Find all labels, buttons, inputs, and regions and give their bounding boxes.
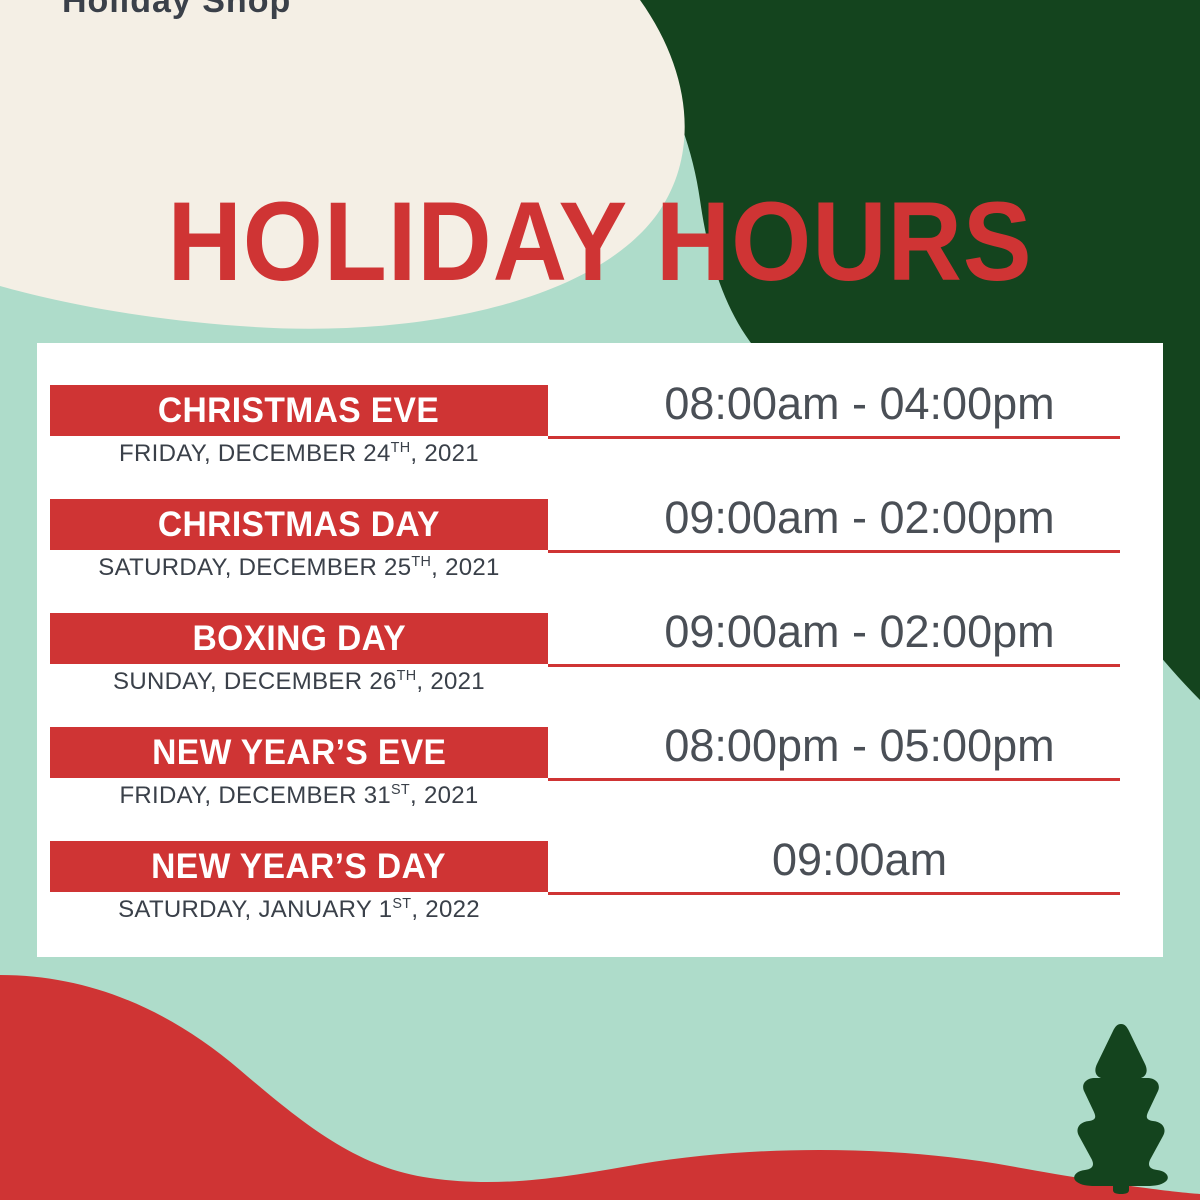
christmas-tree-icon xyxy=(1061,1022,1181,1194)
top-partial-text: Holiday Shop xyxy=(62,0,291,21)
holiday-hours: 09:00am xyxy=(597,837,1122,882)
table-row: NEW YEAR’S DAY SATURDAY, JANUARY 1ST, 20… xyxy=(37,799,1163,913)
holiday-banner: NEW YEAR’S EVE xyxy=(50,727,548,778)
date-ordinal: ST xyxy=(391,782,410,798)
holiday-banner: CHRISTMAS DAY xyxy=(50,499,548,550)
date-suffix: , 2022 xyxy=(411,896,480,923)
holiday-name: NEW YEAR’S EVE xyxy=(152,735,446,770)
table-row: CHRISTMAS EVE FRIDAY, DECEMBER 24TH, 202… xyxy=(37,343,1163,457)
hours-underline xyxy=(548,550,1120,553)
hours-underline xyxy=(548,778,1120,781)
holiday-banner: CHRISTMAS EVE xyxy=(50,385,548,436)
holiday-name: CHRISTMAS EVE xyxy=(158,393,439,428)
table-row: NEW YEAR’S EVE FRIDAY, DECEMBER 31ST, 20… xyxy=(37,685,1163,799)
table-row: CHRISTMAS DAY SATURDAY, DECEMBER 25TH, 2… xyxy=(37,457,1163,571)
holiday-name: BOXING DAY xyxy=(192,621,406,656)
hours-underline xyxy=(548,436,1120,439)
schedule-card: CHRISTMAS EVE FRIDAY, DECEMBER 24TH, 202… xyxy=(37,343,1163,957)
holiday-date: SATURDAY, JANUARY 1ST, 2022 xyxy=(50,898,548,922)
date-ordinal: TH xyxy=(397,668,417,684)
holiday-hours: 08:00pm - 05:00pm xyxy=(597,723,1122,768)
red-wave-shape xyxy=(0,975,1200,1200)
date-ordinal: TH xyxy=(391,440,411,456)
holiday-banner: NEW YEAR’S DAY xyxy=(50,841,548,892)
holiday-hours: 09:00am - 02:00pm xyxy=(597,609,1122,654)
date-ordinal: TH xyxy=(411,554,431,570)
holiday-name: CHRISTMAS DAY xyxy=(158,507,440,542)
date-ordinal: ST xyxy=(392,896,411,912)
holiday-hours: 08:00am - 04:00pm xyxy=(597,381,1122,426)
hours-underline xyxy=(548,892,1120,895)
holiday-name: NEW YEAR’S DAY xyxy=(152,849,447,884)
hours-underline xyxy=(548,664,1120,667)
date-prefix: SATURDAY, JANUARY 1 xyxy=(118,896,392,923)
holiday-banner: BOXING DAY xyxy=(50,613,548,664)
holiday-hours: 09:00am - 02:00pm xyxy=(597,495,1122,540)
table-row: BOXING DAY SUNDAY, DECEMBER 26TH, 2021 0… xyxy=(37,571,1163,685)
schedule-rows: CHRISTMAS EVE FRIDAY, DECEMBER 24TH, 202… xyxy=(37,343,1163,913)
page-title: HOLIDAY HOURS xyxy=(48,186,1152,298)
holiday-hours-poster: Holiday Shop HOLIDAY HOURS CHRISTMAS EVE… xyxy=(0,0,1200,1200)
